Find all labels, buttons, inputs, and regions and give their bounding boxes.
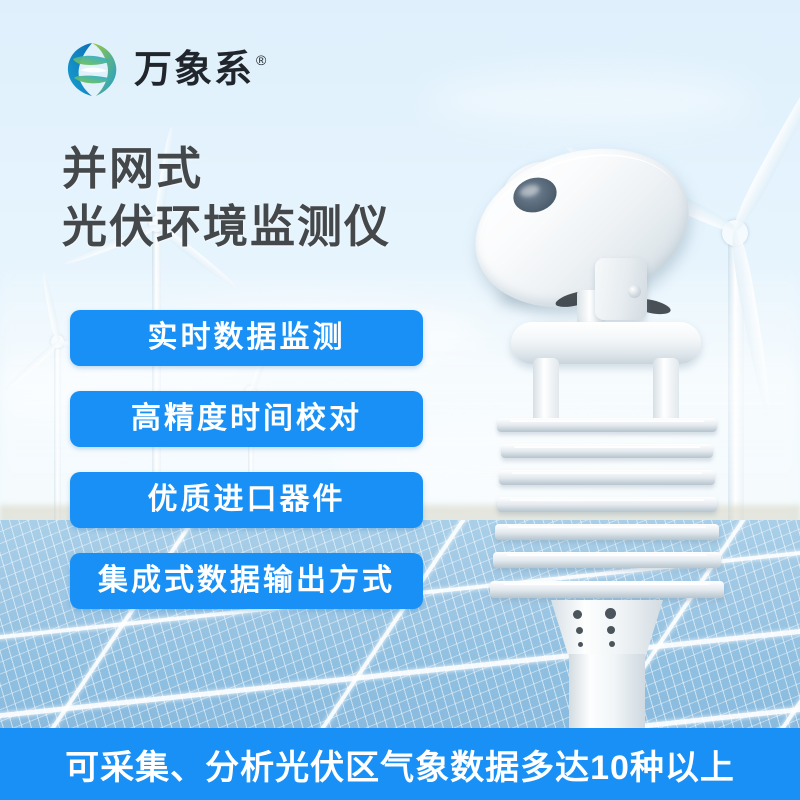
feature-label: 优质进口器件 (148, 485, 346, 515)
feature-label: 实时数据监测 (148, 323, 346, 353)
bottom-banner: 可采集、分析光伏区气象数据多达10种以上 (0, 728, 800, 800)
sensor-hole (605, 608, 616, 619)
sensor-hole (573, 610, 582, 619)
globe-swirl-logo-icon (62, 40, 122, 100)
bottom-banner-text: 可采集、分析光伏区气象数据多达10种以上 (65, 740, 735, 789)
brand-logo: 万象系 ® (62, 40, 266, 100)
feature-label: 高精度时间校对 (131, 404, 362, 434)
headline-line-2: 光伏环境监测仪 (62, 198, 391, 256)
sensor-hole (609, 641, 615, 647)
product-image (455, 140, 755, 710)
feature-item-realtime-monitoring[interactable]: 实时数据监测 (70, 310, 423, 366)
product-banner: 万象系 ® 并网式 光伏环境监测仪 实时数据监测 高精度时间校对 优质进口器件 … (0, 0, 800, 800)
radiation-shield (495, 418, 719, 608)
brand-name: 万象系 (134, 51, 254, 89)
sensor-hole (578, 642, 583, 647)
feature-label: 集成式数据输出方式 (98, 566, 395, 596)
feature-item-integrated-output[interactable]: 集成式数据输出方式 (70, 553, 423, 609)
tilt-joint (595, 258, 647, 320)
page-title: 并网式 光伏环境监测仪 (62, 140, 391, 256)
feature-item-time-sync[interactable]: 高精度时间校对 (70, 391, 423, 447)
trademark-symbol: ® (256, 53, 266, 67)
sensor-hole (576, 627, 583, 634)
feature-item-imported-components[interactable]: 优质进口器件 (70, 472, 423, 528)
feature-list: 实时数据监测 高精度时间校对 优质进口器件 集成式数据输出方式 (70, 310, 423, 609)
headline-line-1: 并网式 (62, 140, 391, 198)
sensor-hole (607, 626, 615, 634)
